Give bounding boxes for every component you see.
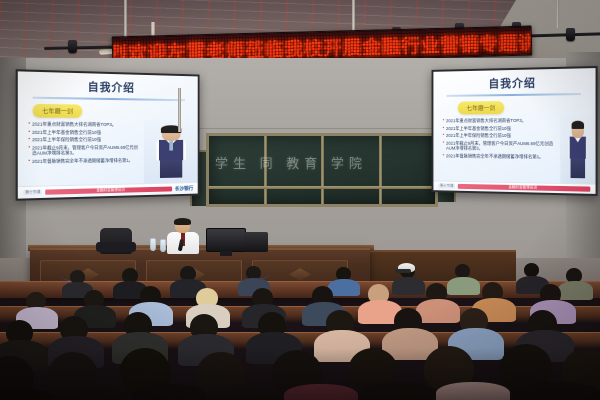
slide-bullet: • 2021年重点财富销售大排名湖南省TOP3。 xyxy=(28,122,140,128)
bullet-dot-icon: • xyxy=(443,126,444,130)
slide-bullet: • 2021年重点财富销售大排名湖南省TOP3。 xyxy=(443,118,556,124)
slide-bullet-text: 2021年督脉销售完全年不承透期储蓄净增排名第1。 xyxy=(32,157,133,164)
projector-mount-rod xyxy=(178,88,181,132)
slide-bullet: • 2021年上半年保险销售全行前10强 xyxy=(28,137,140,143)
slide-bullet: • 2021年上半年基金销售全行前10强 xyxy=(443,125,556,131)
slide-bullet-text: 2021年截止9月末，管理客户今日资产AUM6.69亿元创造AUM净增排名第3。 xyxy=(32,144,140,156)
slide-bullet: • 2021年截止9月末，管理客户今日资产AUM6.69亿元创造AUM净增排名第… xyxy=(443,140,556,152)
projection-screen-right: 自我介绍 七年磨一剑 • 2021年重点财富销售大排名湖南省TOP3。 • 20… xyxy=(432,66,598,196)
desk-monitor xyxy=(206,228,246,252)
office-chair xyxy=(100,228,132,254)
slide-bullet-text: 2021年截止9月末，管理客户今日资产AUM6.69亿元创造AUM净增排名第3。 xyxy=(446,140,556,152)
support-pole xyxy=(352,0,355,34)
audience-body xyxy=(392,277,425,295)
slide-footer-logo: 长沙银行 xyxy=(175,185,193,192)
slide-bullet: • 2021年上半年基金销售全行前10强 xyxy=(28,129,140,135)
speaker-person xyxy=(166,219,200,253)
slide-bullet-text: 2021年重点财富销售大排名湖南省TOP3。 xyxy=(446,118,526,124)
audience-body xyxy=(447,277,480,295)
slide-bullet: • 2021年督脉销售完全年不承透期储蓄净增排名第1。 xyxy=(28,157,140,164)
bullet-dot-icon: • xyxy=(28,158,30,163)
bullet-dot-icon: • xyxy=(28,122,30,127)
spotlight-icon xyxy=(68,40,77,53)
slide-portrait xyxy=(144,120,198,183)
bullet-dot-icon: • xyxy=(28,129,30,134)
slide-title: 自我介绍 xyxy=(433,73,595,92)
audience-body xyxy=(512,382,600,400)
slide-portrait xyxy=(560,116,595,184)
audience-head xyxy=(524,263,539,277)
slide-footer-bar: 金融财富管理培训 xyxy=(458,184,590,192)
audience-body xyxy=(360,382,434,400)
audience-body xyxy=(284,384,358,400)
bullet-dot-icon: • xyxy=(443,133,444,137)
water-bottle xyxy=(150,238,156,251)
bullet-dot-icon: • xyxy=(443,118,444,122)
slide-badge: 七年磨一剑 xyxy=(33,104,83,118)
blackboard: 学生 同 教育 学院 xyxy=(206,133,438,207)
slide-bullet-text: 2021年上半年保险销售全行前10强 xyxy=(446,133,511,139)
bullet-dot-icon: • xyxy=(28,145,30,150)
audience-body xyxy=(132,384,206,400)
bullet-dot-icon: • xyxy=(443,153,444,157)
slide-bullet: • 2021年督脉销售完全年不承透期储蓄净增排名第1。 xyxy=(443,153,556,160)
slide-bullet-text: 2021年上半年基金销售全行前10强 xyxy=(446,126,511,131)
baseball-cap-icon xyxy=(398,263,415,272)
projection-screen-left: 自我介绍 七年磨一剑 • 2021年重点财富销售大排名湖南省TOP3。 • 20… xyxy=(16,69,200,201)
lecture-hall-photo: 热烈欢迎左霄老师莅临我校开展金融行业营销专题讲座 学生 同 教育 学院 自我介绍… xyxy=(0,0,600,400)
slide-badge: 七年磨一剑 xyxy=(458,101,504,114)
slide-title: 自我介绍 xyxy=(18,77,198,97)
slide-bullet-text: 2021年上半年保险销售全行前10强 xyxy=(32,137,101,143)
audience-body xyxy=(208,386,282,400)
slide-bullet-text: 2021年上半年基金销售全行前10强 xyxy=(32,129,101,135)
slide-footer-bar: 金融财富管理培训 xyxy=(46,187,172,195)
audience-body xyxy=(436,382,510,400)
spotlight-icon xyxy=(566,28,575,41)
support-pole xyxy=(556,0,559,28)
bullet-dot-icon: • xyxy=(28,137,30,142)
slide-bullet: • 2021年上半年保险销售全行前10强 xyxy=(443,133,556,139)
slide-right: 自我介绍 七年磨一剑 • 2021年重点财富销售大排名湖南省TOP3。 • 20… xyxy=(433,68,595,194)
audience-body xyxy=(416,299,460,323)
desk-monitor-secondary xyxy=(244,232,268,252)
audience-body xyxy=(0,388,56,400)
audience-seating xyxy=(0,272,600,400)
audience-head xyxy=(455,264,470,278)
slide-divider xyxy=(446,93,580,97)
slide-bullet-text: 2021年督脉销售完全年不承透期储蓄净增排名第1。 xyxy=(446,153,543,159)
audience-body xyxy=(558,281,593,300)
audience-body xyxy=(56,386,130,400)
slide-footer-tag: 第十节课 xyxy=(23,190,42,196)
blackboard-chalk-text: 学生 同 教育 学院 xyxy=(215,153,367,172)
slide-left: 自我介绍 七年磨一剑 • 2021年重点财富销售大排名湖南省TOP3。 • 20… xyxy=(18,71,198,198)
slide-footer: 第十节课 金融财富管理培训 长沙银行 xyxy=(18,182,198,199)
slide-footer-tag: 第十节课 xyxy=(438,183,455,188)
slide-bullet-text: 2021年重点财富销售大排名湖南省TOP3。 xyxy=(32,122,116,128)
bullet-dot-icon: • xyxy=(443,140,444,144)
slide-bullet: • 2021年截止9月末，管理客户今日资产AUM6.69亿元创造AUM净增排名第… xyxy=(28,144,140,156)
slide-divider xyxy=(33,97,185,102)
